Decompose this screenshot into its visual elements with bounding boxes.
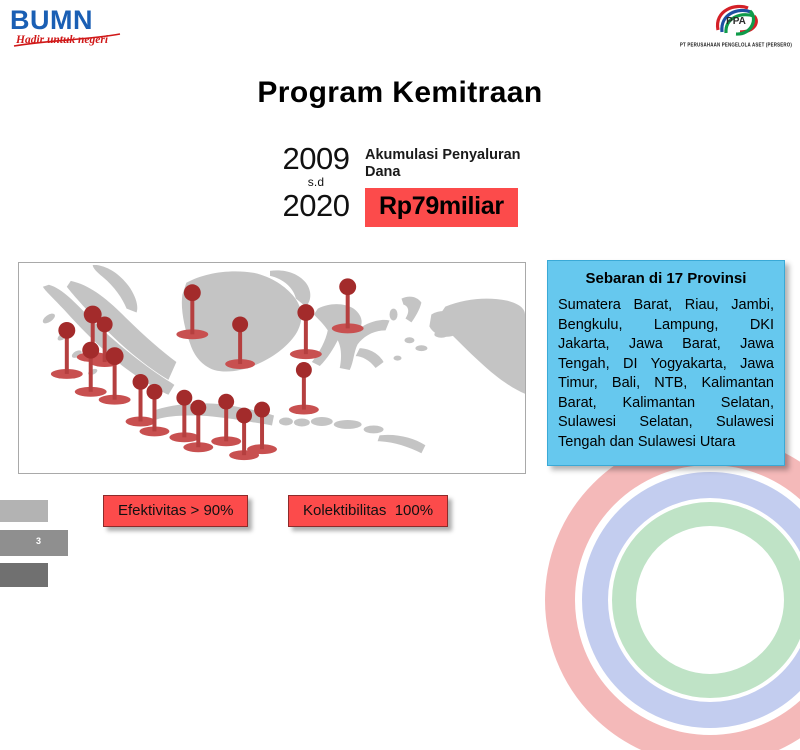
province-distribution-box: Sebaran di 17 Provinsi Sumatera Barat, R…	[547, 260, 785, 466]
map-pin[interactable]	[211, 394, 241, 447]
indonesia-map	[19, 263, 525, 473]
map-pin[interactable]	[247, 402, 277, 455]
ppa-logo-graphic: PPA	[678, 2, 794, 36]
stats-row: 2009 s.d 2020 Akumulasi Penyaluran Dana …	[275, 143, 540, 227]
footer-bar-middle	[0, 530, 68, 556]
amount-block: Akumulasi Penyaluran Dana Rp79miliar	[365, 143, 540, 227]
province-box-title: Sebaran di 17 Provinsi	[558, 270, 774, 287]
province-box-text: Sumatera Barat, Riau, Jambi, Bengkulu, L…	[558, 296, 774, 453]
page-title: Program Kemitraan	[0, 76, 800, 110]
year-to: 2020	[275, 190, 357, 221]
bumn-logo: BUMN Hadir untuk negeri	[8, 2, 130, 48]
indonesia-map-panel	[18, 262, 526, 474]
footer-bar-top	[0, 500, 48, 522]
page-number: 3	[36, 536, 41, 546]
amount-label: Akumulasi Penyaluran Dana	[365, 147, 540, 181]
map-pin[interactable]	[51, 322, 83, 379]
ppa-caption: PT PERUSAHAAN PENGELOLA ASET (PERSERO)	[678, 41, 794, 47]
map-pin[interactable]	[289, 362, 319, 415]
ppa-wordmark: PPA	[726, 16, 746, 27]
badge-efektivitas: Efektivitas > 90%	[103, 495, 248, 527]
badge-kolektibilitas: Kolektibilitas 100%	[288, 495, 448, 527]
ppa-logo: PPA PT PERUSAHAAN PENGELOLA ASET (PERSER…	[678, 2, 794, 52]
year-separator: s.d	[275, 176, 357, 188]
map-pin[interactable]	[75, 342, 107, 397]
amount-value-box: Rp79miliar	[365, 188, 518, 227]
footer-bar-bottom	[0, 563, 48, 587]
period-block: 2009 s.d 2020	[275, 143, 357, 221]
bumn-logo-graphic: BUMN Hadir untuk negeri	[8, 2, 130, 48]
bumn-wordmark: BUMN	[10, 5, 93, 35]
year-from: 2009	[275, 143, 357, 174]
